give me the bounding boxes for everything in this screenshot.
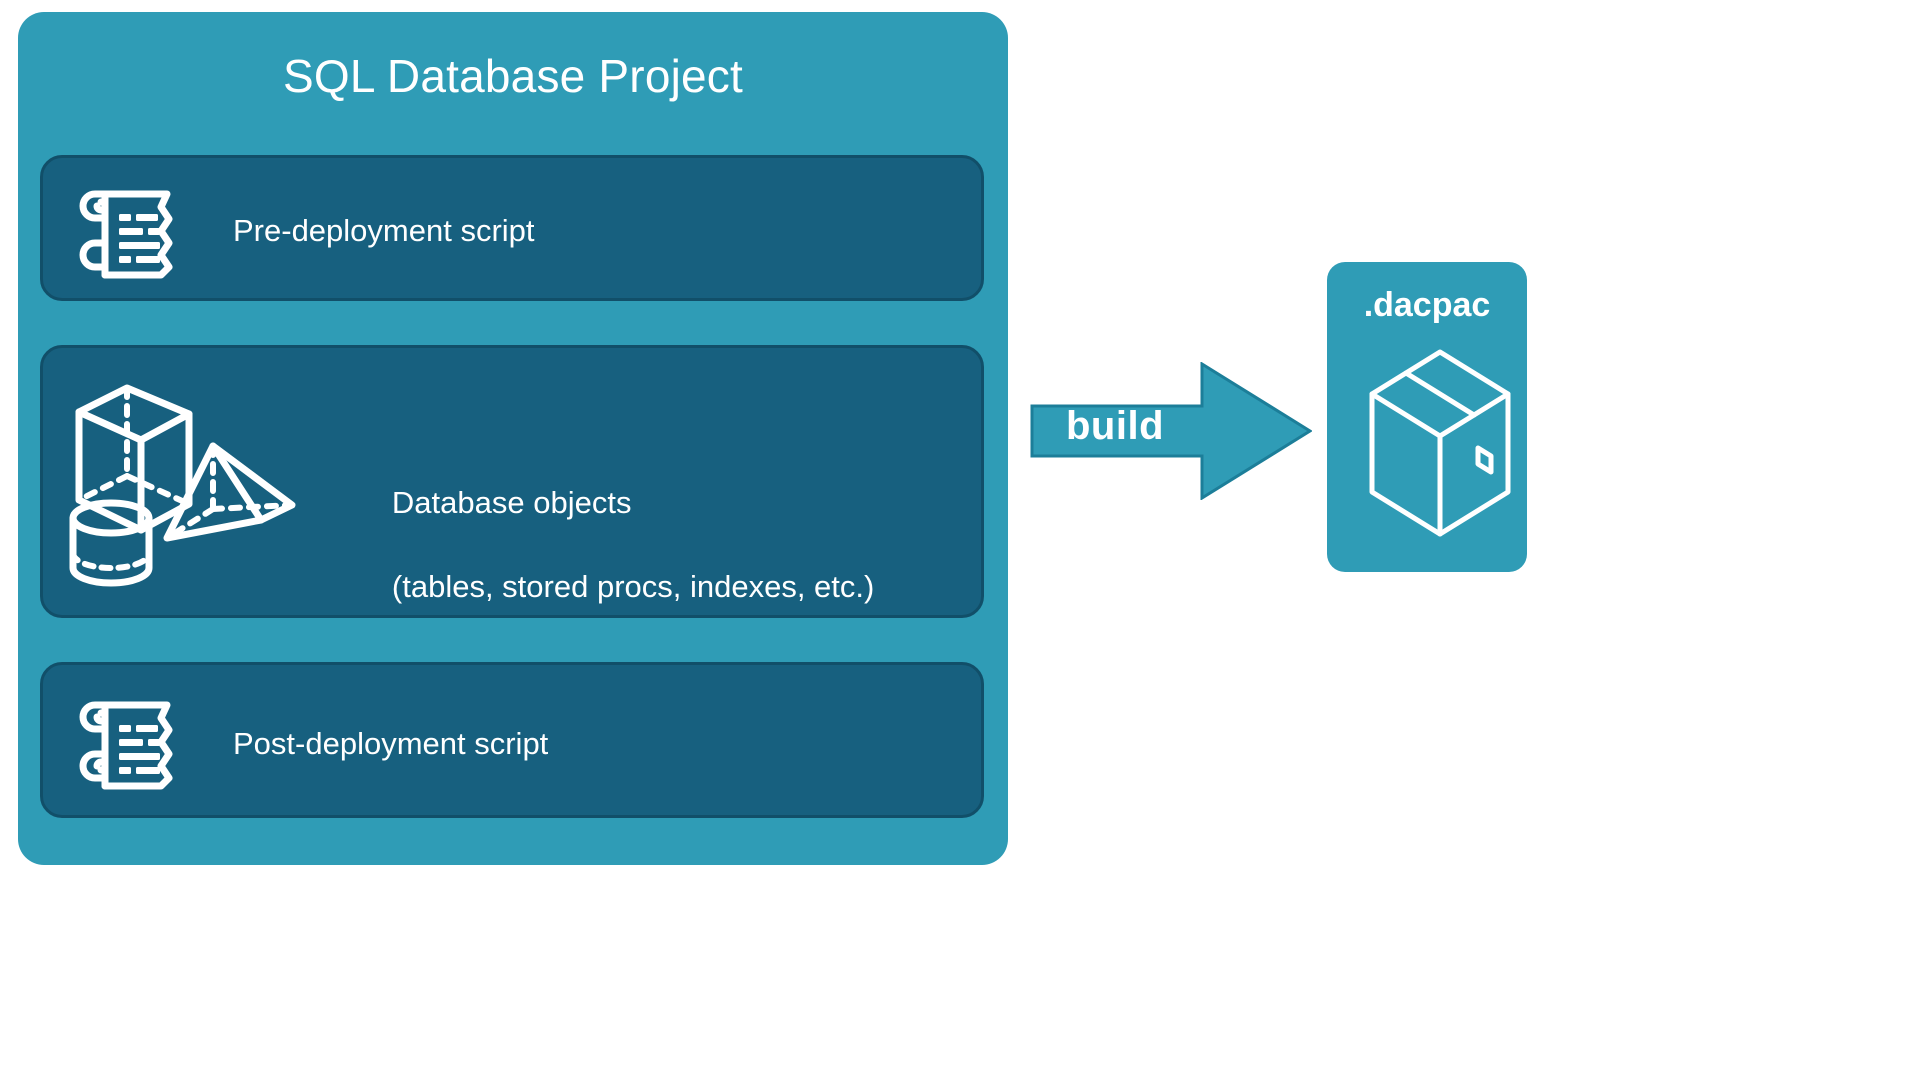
dacpac-output-card: .dacpac xyxy=(1327,262,1527,572)
scroll-icon xyxy=(75,687,185,797)
section-post-deployment-script[interactable]: Post-deployment script xyxy=(40,662,984,818)
database-objects-line2: (tables, stored procs, indexes, etc.) xyxy=(392,569,874,604)
sql-database-project-card: SQL Database Project xyxy=(18,12,1008,865)
section-database-objects[interactable]: Database objects (tables, stored procs, … xyxy=(40,345,984,618)
package-box-icon xyxy=(1365,342,1515,542)
diagram-canvas: SQL Database Project xyxy=(0,0,1920,1080)
3d-shapes-icon xyxy=(61,370,311,595)
section-label-post-deployment: Post-deployment script xyxy=(233,723,548,765)
section-label-database-objects: Database objects (tables, stored procs, … xyxy=(323,440,874,650)
page-title: SQL Database Project xyxy=(18,48,1008,104)
scroll-icon xyxy=(75,176,185,286)
dacpac-label: .dacpac xyxy=(1327,284,1527,326)
build-arrow-label: build xyxy=(1066,402,1164,450)
section-pre-deployment-script[interactable]: Pre-deployment script xyxy=(40,155,984,301)
database-objects-line1: Database objects xyxy=(392,485,632,520)
section-label-pre-deployment: Pre-deployment script xyxy=(233,210,535,252)
